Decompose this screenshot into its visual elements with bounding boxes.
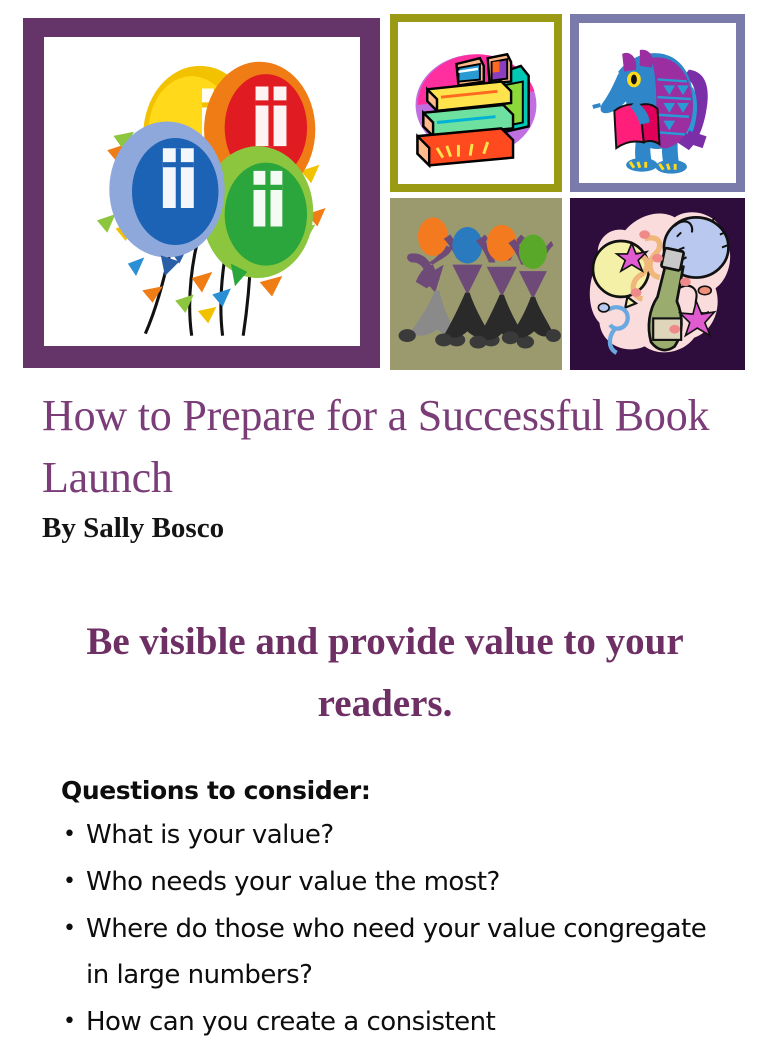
- key-statement: Be visible and provide value to your rea…: [60, 611, 710, 735]
- balloons-image-frame: [23, 18, 380, 368]
- list-item: • How can you create a consistent: [61, 999, 721, 1045]
- list-item-label: How can you create a consistent: [86, 1007, 495, 1037]
- armadillo-reading-clipart-icon: [579, 23, 736, 183]
- celebration-clipart-icon: [570, 198, 745, 370]
- bullet-icon: •: [63, 859, 75, 905]
- bullet-icon: •: [63, 906, 75, 952]
- slide-text-area: How to Prepare for a Successful Book Lau…: [0, 372, 768, 1024]
- armadillo-image: [579, 23, 736, 183]
- bullet-icon: •: [63, 999, 75, 1045]
- celebration-image: [570, 198, 745, 370]
- list-item-label: Who needs your value the most?: [86, 867, 500, 897]
- image-strip: [0, 0, 768, 372]
- questions-heading: Questions to consider:: [61, 775, 370, 807]
- book-stack-image: [398, 22, 554, 184]
- dancing-figures-image: [390, 198, 562, 370]
- questions-list: • What is your value? • Who needs your v…: [61, 812, 721, 1046]
- book-stack-image-frame: [390, 14, 562, 192]
- book-stack-clipart-icon: [398, 22, 554, 184]
- list-item: • Where do those who need your value con…: [61, 906, 721, 998]
- balloons-image: [44, 37, 360, 346]
- page-title: How to Prepare for a Successful Book Lau…: [42, 385, 732, 509]
- list-item-label: Where do those who need your value congr…: [86, 914, 706, 990]
- bullet-icon: •: [63, 812, 75, 858]
- dancing-figures-clipart-icon: [390, 198, 562, 370]
- list-item: • Who needs your value the most?: [61, 859, 721, 905]
- list-item: • What is your value?: [61, 812, 721, 858]
- list-item-label: What is your value?: [86, 820, 334, 850]
- author-byline: By Sally Bosco: [42, 511, 224, 545]
- armadillo-image-frame: [570, 14, 745, 192]
- balloons-clipart-icon: [44, 37, 360, 346]
